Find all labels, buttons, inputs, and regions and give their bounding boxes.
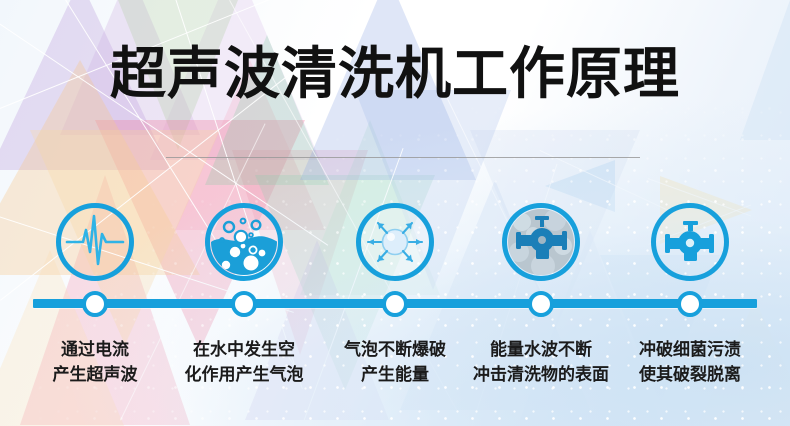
step-icon-4[interactable] xyxy=(502,203,580,281)
step-caption-5-line2: 使其破裂脱离 xyxy=(595,363,785,388)
step-caption-2-line1: 在水中发生空 xyxy=(193,340,295,360)
clean-valve-part-icon xyxy=(651,203,729,281)
infographic-poster: 超声波清洗机工作原理 xyxy=(0,0,790,426)
step-caption-4-line1: 能量水波不断 xyxy=(490,340,592,360)
title-divider xyxy=(166,157,640,158)
step-caption-5-line1: 冲破细菌污渍 xyxy=(639,340,741,360)
timeline-node-2[interactable] xyxy=(231,291,257,317)
waveform-pulse-glyph xyxy=(61,208,129,276)
step-caption-5: 冲破细菌污渍 使其破裂脱离 xyxy=(595,338,785,388)
timeline-node-3[interactable] xyxy=(382,291,408,317)
bubble-burst-arrows-glyph xyxy=(361,208,429,276)
timeline-node-1[interactable] xyxy=(82,291,108,317)
waveform-pulse-icon xyxy=(56,203,134,281)
bubbles-in-liquid-glyph xyxy=(210,208,278,276)
step-icon-2[interactable] xyxy=(205,203,283,281)
dirty-valve-part-glyph xyxy=(507,208,575,276)
bubbles-in-liquid-icon xyxy=(205,203,283,281)
clean-valve-part-glyph xyxy=(656,208,724,276)
timeline-node-5[interactable] xyxy=(677,291,703,317)
step-caption-1-line1: 通过电流 xyxy=(61,340,129,360)
step-icon-1[interactable] xyxy=(56,203,134,281)
step-icon-3[interactable] xyxy=(356,203,434,281)
step-caption-3-line1: 气泡不断爆破 xyxy=(344,340,446,360)
page-title: 超声波清洗机工作原理 xyxy=(0,44,790,106)
timeline-node-4[interactable] xyxy=(528,291,554,317)
dirty-valve-part-icon xyxy=(502,203,580,281)
bubble-burst-arrows-icon xyxy=(356,203,434,281)
step-icon-5[interactable] xyxy=(651,203,729,281)
